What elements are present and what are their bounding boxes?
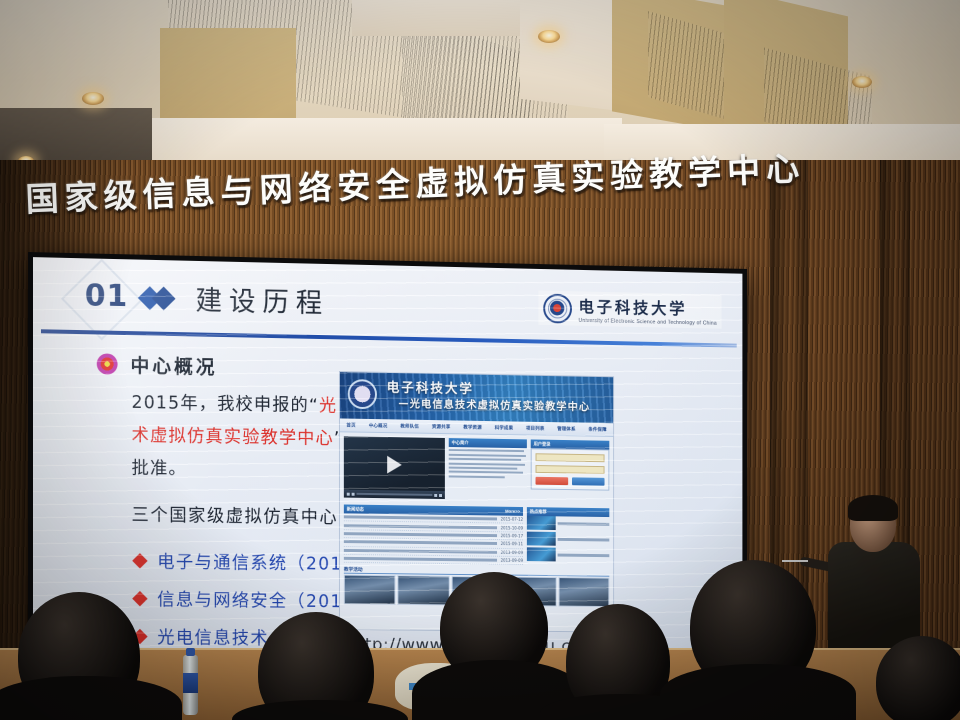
water-bottle bbox=[183, 655, 198, 715]
slide-title: 建设历程 bbox=[196, 279, 329, 321]
gallery-thumb[interactable] bbox=[527, 516, 556, 530]
double-diamond-icon bbox=[141, 285, 183, 310]
gallery-panel: 热点推荐 bbox=[527, 507, 609, 566]
section-title: 中心概况 bbox=[130, 351, 217, 380]
wall-sign-text: 国家级信息与网络安全虚拟仿真实验教学中心 bbox=[25, 142, 806, 221]
login-button[interactable] bbox=[536, 477, 569, 485]
projection-screen: 01 建设历程 电子科技大学 University of Electronic … bbox=[28, 252, 747, 666]
university-logo: 电子科技大学 University of Electronic Science … bbox=[538, 291, 721, 329]
downlight bbox=[852, 76, 872, 88]
nav-item-resources[interactable]: 教学资源 bbox=[463, 424, 482, 430]
slide-number: 01 bbox=[85, 278, 128, 314]
nav-item-overview[interactable]: 中心概况 bbox=[369, 422, 388, 428]
nav-item-results[interactable]: 科学成果 bbox=[495, 425, 513, 431]
news-more-link[interactable]: More>> bbox=[505, 509, 520, 514]
news-date: 2015-09-11 bbox=[501, 541, 523, 546]
uestc-emblem-icon bbox=[543, 293, 572, 323]
gallery-item[interactable] bbox=[527, 532, 609, 547]
activities-panel-title: 教学活动 bbox=[344, 566, 363, 573]
video-player[interactable] bbox=[344, 436, 445, 499]
video-control-bar[interactable] bbox=[344, 490, 445, 499]
nav-item-faculty[interactable]: 教师队伍 bbox=[400, 423, 419, 429]
logo-name-cn: 电子科技大学 bbox=[579, 293, 717, 319]
nav-item-projects[interactable]: 项目列表 bbox=[526, 425, 544, 431]
section-heading: 中心概况 bbox=[97, 350, 218, 379]
activity-thumb[interactable] bbox=[344, 575, 396, 605]
site-upper-row: 中心简介 用户登录 bbox=[340, 432, 613, 505]
news-list: 新闻动态 More>> 2015-07-12 2015-10-09 2015-0… bbox=[344, 504, 523, 565]
login-panel: 用户登录 bbox=[531, 439, 610, 501]
diamond-bullet-icon bbox=[132, 553, 147, 568]
audience-person bbox=[660, 664, 856, 720]
presentation-slide: 01 建设历程 电子科技大学 University of Electronic … bbox=[33, 257, 742, 661]
news-date: 2013-09-09 bbox=[501, 550, 523, 555]
gallery-item[interactable] bbox=[527, 547, 609, 562]
intro-panel-header: 中心简介 bbox=[449, 438, 527, 448]
intro-text bbox=[449, 449, 527, 478]
downlight bbox=[82, 92, 104, 105]
laser-pointer bbox=[782, 560, 808, 562]
nav-item-home[interactable]: 首页 bbox=[346, 422, 355, 428]
username-input[interactable] bbox=[536, 453, 605, 462]
password-input[interactable] bbox=[536, 465, 605, 474]
news-date: 2013-09-09 bbox=[501, 558, 523, 563]
header-rule bbox=[41, 329, 737, 347]
intro-panel-title: 中心简介 bbox=[452, 440, 469, 446]
nav-item-management[interactable]: 管理体系 bbox=[557, 426, 575, 432]
nav-item-support[interactable]: 条件保障 bbox=[588, 426, 606, 432]
paragraph-part1: 2015年，我校申报的 bbox=[131, 393, 308, 416]
gallery-thumb[interactable] bbox=[527, 547, 556, 561]
gallery-item[interactable] bbox=[527, 516, 609, 531]
list-lead: 三个国家级虚拟仿真中心： bbox=[131, 501, 356, 529]
site-title-cn: 电子科技大学 bbox=[387, 377, 474, 397]
login-panel-title: 用户登录 bbox=[534, 441, 551, 447]
register-button[interactable] bbox=[572, 477, 605, 485]
news-date: 2015-07-12 bbox=[501, 517, 523, 522]
nav-item-sharing[interactable]: 资源共享 bbox=[432, 424, 451, 430]
audience-head bbox=[876, 636, 960, 720]
activity-thumb[interactable] bbox=[398, 576, 450, 606]
gallery-panel-title: 热点推荐 bbox=[530, 509, 547, 515]
downlight bbox=[538, 30, 560, 43]
intro-panel: 中心简介 bbox=[449, 438, 527, 500]
activity-thumb[interactable] bbox=[558, 577, 609, 607]
site-banner: 电子科技大学 —光电信息技术虚拟仿真实验教学中心 bbox=[340, 372, 613, 423]
site-subtitle-cn: —光电信息技术虚拟仿真实验教学中心 bbox=[398, 396, 590, 414]
diamond-bullet-icon bbox=[132, 590, 147, 605]
slide-header: 01 建设历程 bbox=[85, 276, 329, 320]
lecture-hall-photo: 国家级信息与网络安全虚拟仿真实验教学中心 01 建设历程 电子科技大学 Univ… bbox=[0, 0, 960, 720]
news-date: 2015-09-17 bbox=[501, 533, 523, 538]
news-item[interactable]: 2013-09-09 bbox=[344, 555, 523, 565]
quote-open: “ bbox=[309, 396, 319, 416]
play-triangle-icon[interactable] bbox=[387, 456, 402, 474]
uestc-emblem-icon bbox=[348, 379, 377, 409]
gallery-thumb[interactable] bbox=[527, 532, 556, 546]
news-date: 2015-10-09 bbox=[501, 525, 523, 530]
presenter bbox=[826, 498, 920, 658]
news-section: 新闻动态 More>> 2015-07-12 2015-10-09 2015-0… bbox=[344, 504, 609, 566]
target-dot-icon bbox=[97, 353, 118, 374]
video-progress-track[interactable] bbox=[357, 493, 433, 496]
news-panel-title: 新闻动态 bbox=[347, 506, 364, 512]
